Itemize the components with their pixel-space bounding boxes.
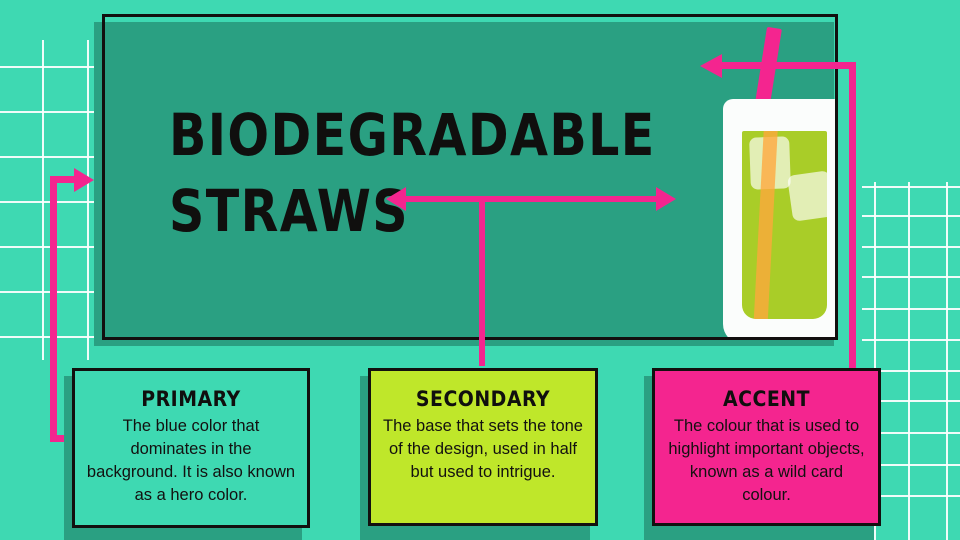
connector-accent-vertical <box>849 62 856 374</box>
secondary-card[interactable]: Secondary The base that sets the tone of… <box>368 368 598 526</box>
glass-liquid <box>742 131 827 319</box>
connector-secondary-horizontal <box>398 196 668 202</box>
primary-card-title: Primary <box>75 381 307 413</box>
primary-card[interactable]: Primary The blue color that dominates in… <box>72 368 310 528</box>
connector-secondary-vertical <box>479 196 485 366</box>
accent-card-title: Accent <box>655 381 878 413</box>
arrowhead-left-icon <box>700 54 722 78</box>
accent-card[interactable]: Accent The colour that is used to highli… <box>652 368 881 526</box>
secondary-card-body: The base that sets the tone of the desig… <box>381 415 585 484</box>
connector-primary-vertical <box>50 176 57 442</box>
primary-card-body: The blue color that dominates in the bac… <box>85 415 297 507</box>
arrowhead-left-icon <box>386 187 406 211</box>
arrowhead-right-icon <box>656 187 676 211</box>
slide-canvas: BIODEGRADABLE STRAWS Primary The blue co… <box>0 0 960 540</box>
secondary-card-title: Secondary <box>371 381 595 413</box>
connector-accent-horizontal <box>722 62 856 69</box>
ice-cube-2 <box>787 170 827 221</box>
accent-card-body: The colour that is used to highlight imp… <box>665 415 868 507</box>
arrowhead-right-icon <box>74 168 94 192</box>
page-title: BIODEGRADABLE STRAWS <box>169 97 695 249</box>
